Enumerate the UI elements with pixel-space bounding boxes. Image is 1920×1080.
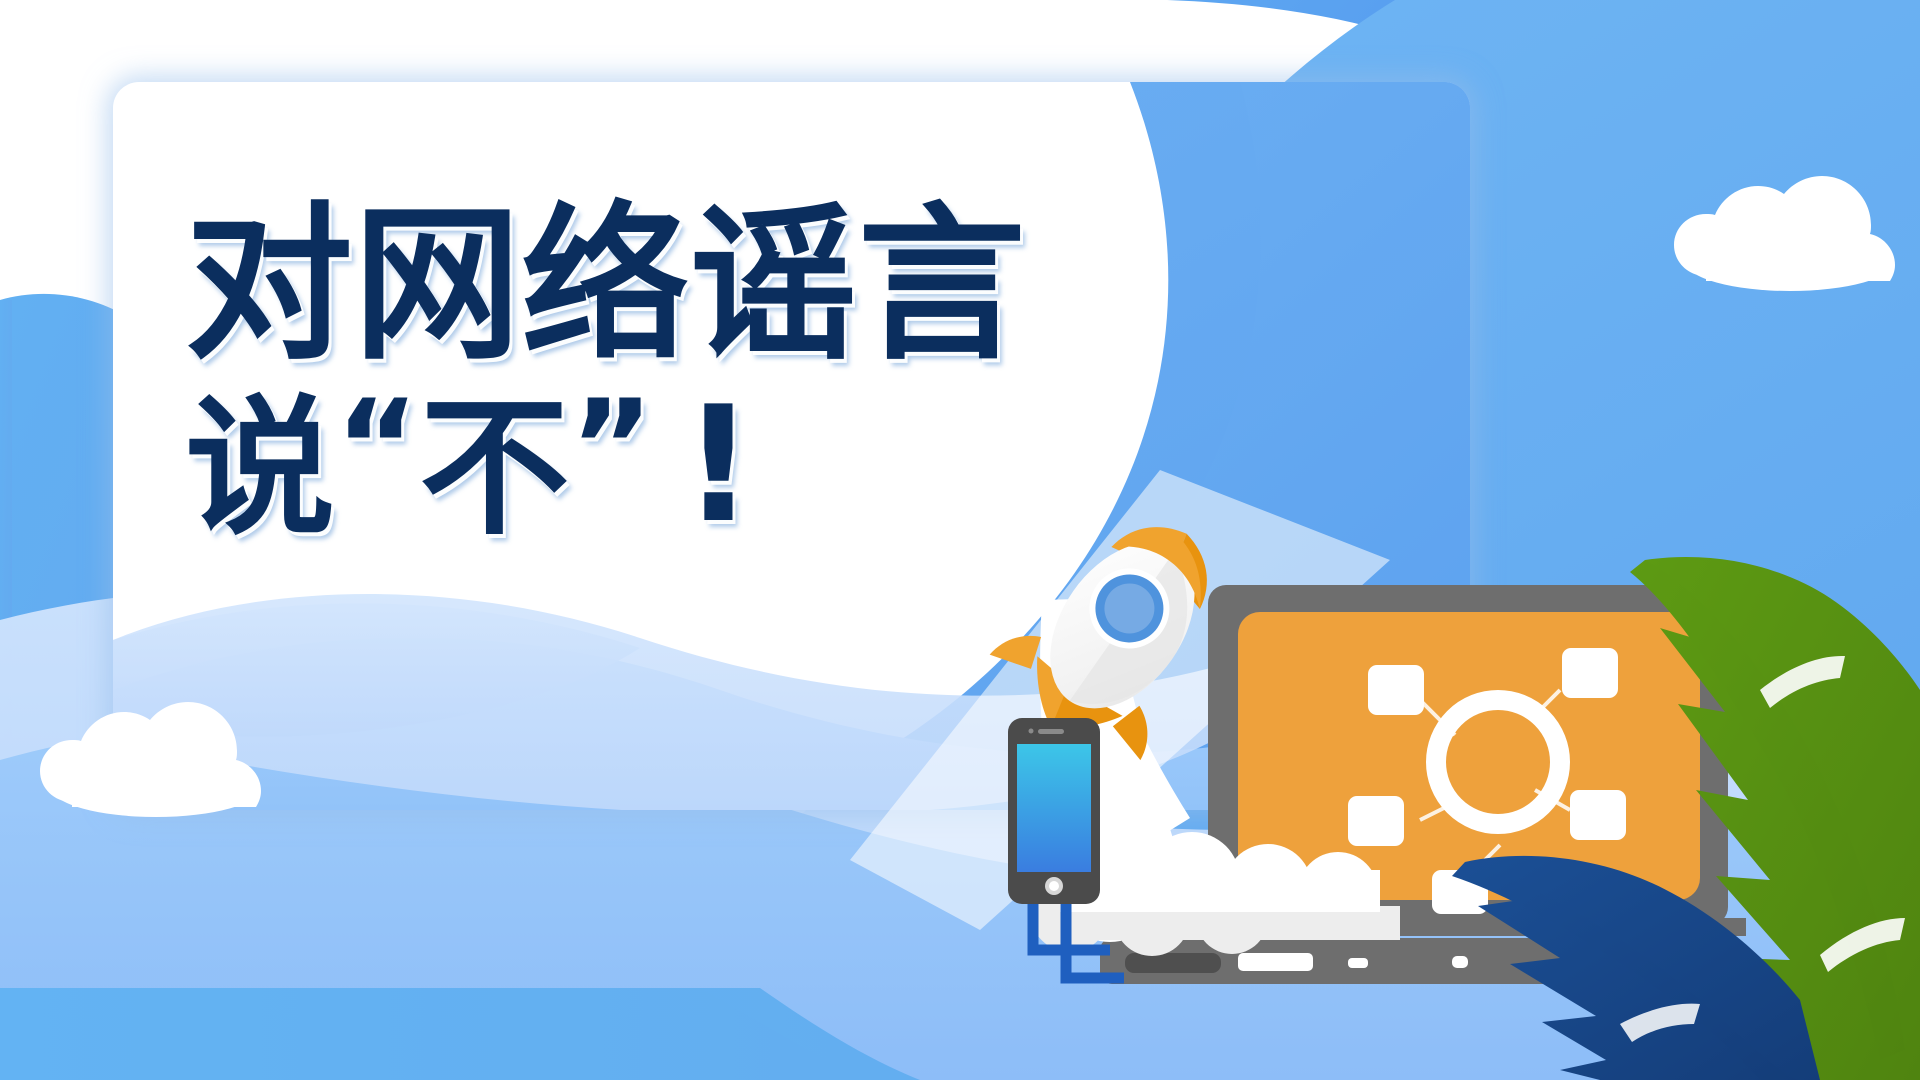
headline: 对网络谣言 说“不”!: [185, 200, 1026, 549]
poster-canvas: 对网络谣言 说“不”!: [0, 0, 1920, 1080]
headline-line-2: 说“不”!: [185, 381, 1026, 549]
headline-close-quote: ”: [570, 373, 654, 522]
headline-open-quote: “: [335, 373, 419, 522]
headline-line-1: 对网络谣言: [185, 200, 1026, 371]
headline-keyword: 不: [419, 382, 569, 556]
headline-line-2-prefix: 说: [185, 382, 335, 556]
headline-exclamation: !: [682, 371, 755, 558]
